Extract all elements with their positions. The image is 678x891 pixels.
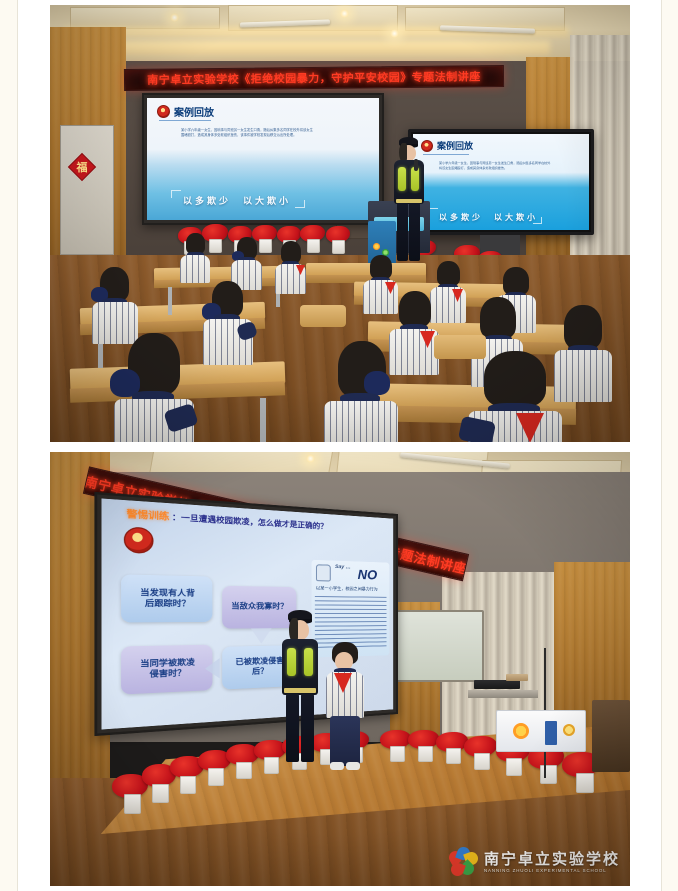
quote-bracket-open — [429, 208, 438, 215]
tv-slide-title-row: 案例回放 — [421, 139, 473, 152]
sun-icon — [513, 723, 529, 739]
slide-title: 案例回放 — [174, 104, 214, 119]
cove-light — [80, 41, 550, 55]
photo-article-page: 福 南宁卓立实验学校《拒绝校园暴力，守护平安校园》专题法制讲座 案例回放 — [0, 0, 678, 891]
leg-right — [301, 694, 314, 762]
projection-screen: 案例回放 某小学六年级一女生，因琐事与同班另一女生发生口角，随后纠集多名同学在校… — [142, 93, 384, 225]
page-margin-right — [661, 0, 678, 891]
shoe-right — [346, 762, 360, 770]
led-banner: 南宁卓立实验学校《拒绝校园暴力，守护平安校园》专题法制讲座 — [124, 65, 504, 91]
reflective-vest-left — [287, 648, 296, 676]
tv-display: 案例回放 某小学六年级一女生，因琐事与同班另一女生发生口角，随后纠集多名同学在校… — [408, 129, 594, 235]
tv-slide-quote: 以多欺少 以大欺小 — [439, 212, 538, 223]
projection-surface: 案例回放 某小学六年级一女生，因琐事与同班另一女生发生口角，随后纠集多名同学在校… — [147, 98, 379, 220]
hair — [370, 255, 392, 279]
cardboard-box — [506, 674, 528, 681]
quote-bracket-open — [171, 190, 181, 198]
slide-title-row: 案例回放 — [157, 104, 214, 119]
page-margin-left — [0, 0, 18, 891]
slide-header-warning: 警惕训练 — [127, 507, 170, 523]
side-door — [60, 125, 114, 255]
school-flower-logo-icon — [449, 848, 479, 878]
slide-case-review: 案例回放 某小学六年级一女生，因琐事与同班另一女生发生口角，随后纠集多名同学在校… — [147, 98, 379, 220]
slide-title-rule — [159, 120, 211, 121]
leg-right — [409, 203, 420, 261]
student-on-stage — [322, 642, 368, 774]
board-strip — [545, 721, 557, 745]
no-panel-note: 以某一小学生，校园之间暴力行为 — [316, 585, 378, 592]
hair — [437, 261, 460, 286]
photo-stage-demo[interactable]: 南宁卓立实验学校《拒绝校园暴力，守护平安校园》专题法制讲座 警惕训练 ：一旦遭遇… — [50, 452, 630, 886]
downlight-icon — [390, 29, 399, 38]
slide-header-question: ：一旦遭遇校园欺凌，怎么做才是正确的？ — [172, 512, 328, 532]
school-watermark: 南宁卓立实验学校 NANNING ZHUOLI EXPERIMENTAL SCH… — [449, 848, 620, 878]
hair — [186, 233, 205, 254]
no-panel-word: NO — [358, 567, 377, 583]
reflective-vest-left — [398, 167, 406, 191]
student — [88, 267, 140, 341]
trousers — [330, 716, 360, 766]
reflective-vest-right — [304, 648, 313, 676]
board-badge-icon — [563, 724, 575, 736]
student — [460, 351, 570, 442]
slide-header: 警惕训练 ：一旦遭遇校园欺凌，怎么做才是正确的？ — [127, 507, 328, 532]
hair — [564, 305, 602, 349]
classroom-scene: 福 南宁卓立实验学校《拒绝校园暴力，守护平安校园》专题法制讲座 案例回放 — [50, 5, 630, 442]
school-uniform — [324, 401, 398, 442]
hair — [281, 241, 301, 263]
sun-icon — [373, 243, 380, 250]
watermark-name-en: NANNING ZHUOLI EXPERIMENTAL SCHOOL — [484, 869, 620, 873]
desk-leg — [260, 398, 266, 442]
student — [318, 341, 404, 442]
tv-slide-rule — [423, 154, 469, 155]
quote-bracket-close — [295, 200, 305, 208]
tv-screen: 案例回放 某小学六年级一女生，因琐事与同班另一女生发生口角，随后纠集多名同学在校… — [413, 134, 589, 230]
ceiling-coffer — [70, 7, 220, 29]
photo-stack: 福 南宁卓立实验学校《拒绝校园暴力，守护平安校园》专题法制讲座 案例回放 — [50, 5, 630, 886]
led-banner-text: 南宁卓立实验学校《拒绝校园暴力，守护平安校园》专题法制讲座 — [147, 68, 481, 87]
student — [106, 333, 198, 442]
flow-arrow-left — [205, 658, 220, 679]
downlight-icon — [306, 454, 315, 463]
equipment-box — [474, 680, 520, 689]
downlight-icon — [170, 13, 179, 22]
student — [198, 281, 254, 361]
lectern — [592, 700, 630, 772]
photo-classroom-lecture[interactable]: 福 南宁卓立实验学校《拒绝校园暴力，守护平安校园》专题法制讲座 案例回放 — [50, 5, 630, 442]
flow-arrow-down — [251, 628, 272, 644]
microphone — [414, 159, 418, 171]
no-panel-sub: Say … — [335, 564, 351, 571]
hair — [399, 291, 431, 327]
hair — [503, 267, 529, 295]
equipment-table — [468, 690, 538, 698]
leg-left — [286, 694, 299, 762]
hair-bow — [364, 371, 390, 395]
police-emblem-icon — [157, 105, 170, 118]
tv-slide-title: 案例回放 — [437, 139, 473, 152]
downlight-icon — [340, 9, 349, 18]
tv-slide-body: 某小学六年级一女生，因琐事与同班另一女生发生口角，随后纠集多名同学在校外将该女生… — [439, 161, 551, 171]
slide-body-text: 某小学六年级一女生，因琐事与同班另一女生发生口角，随后纠集多名同学在校外将该女生… — [181, 128, 313, 138]
police-officer — [388, 137, 428, 267]
desk-leg — [168, 287, 172, 315]
student — [228, 237, 264, 285]
student — [272, 241, 308, 291]
watermark-name-cn: 南宁卓立实验学校 — [484, 852, 620, 867]
hair — [480, 297, 516, 339]
police-emblem-icon — [124, 526, 154, 553]
display-board — [496, 710, 586, 752]
slide-quote: 以多欺少 以大欺小 — [183, 194, 291, 207]
chair-back — [434, 335, 486, 359]
police-officer — [276, 610, 324, 768]
stop-hand-icon — [316, 564, 331, 581]
whiteboard — [394, 610, 484, 682]
shoe-left — [330, 762, 344, 770]
quote-bracket-close — [533, 217, 542, 224]
school-uniform — [180, 255, 210, 283]
chair-back — [300, 305, 346, 327]
stage-scene: 南宁卓立实验学校《拒绝校园暴力，守护平安校园》专题法制讲座 警惕训练 ：一旦遭遇… — [50, 452, 630, 886]
flow-box-3: 当同学被欺凌 侵害时？ — [121, 645, 212, 695]
leg-left — [397, 203, 408, 261]
duty-belt — [284, 688, 316, 693]
flow-box-1: 当发现有人背 后跟踪时？ — [121, 574, 212, 622]
tv-slide-case: 案例回放 某小学六年级一女生，因琐事与同班另一女生发生口角，随后纠集多名同学在校… — [413, 134, 589, 230]
hair — [484, 351, 546, 407]
student — [178, 233, 212, 279]
watermark-text: 南宁卓立实验学校 NANNING ZHUOLI EXPERIMENTAL SCH… — [484, 852, 620, 873]
